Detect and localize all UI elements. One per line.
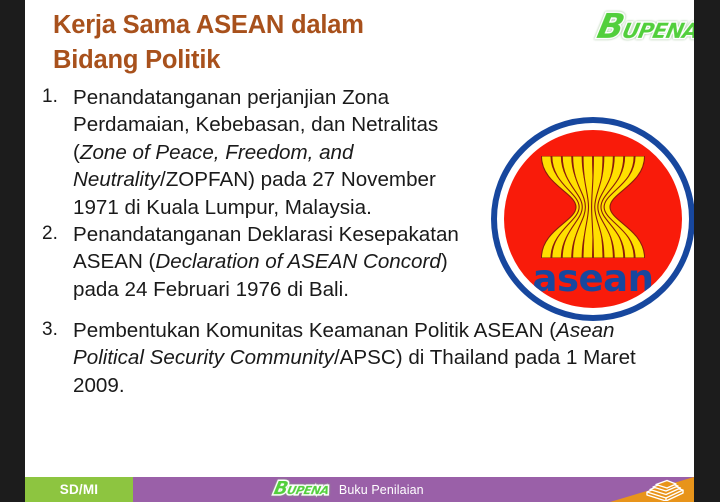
list-marker: 3. xyxy=(39,317,73,342)
bupena-logo: BUPENA xyxy=(598,10,686,46)
list-item: 3. Pembentukan Komunitas Keamanan Politi… xyxy=(39,317,679,399)
asean-wordmark: asean xyxy=(504,260,682,297)
bupena-rest: UPENA xyxy=(286,483,331,497)
text-run-italic: Declaration of ASEAN Concord xyxy=(155,250,440,273)
slide-root: Kerja Sama ASEAN dalam Bidang Politik BU… xyxy=(0,0,720,502)
footer-level-badge: SD/MI xyxy=(25,477,133,502)
list-item-text: Penandatanganan perjanjian Zona Perdamai… xyxy=(73,84,465,221)
bupena-text: BUPENA xyxy=(272,482,330,498)
footer-main: BUPENA Buku Penilaian xyxy=(133,477,694,502)
footer-bupena-logo: BUPENA xyxy=(274,480,329,499)
page-title: Kerja Sama ASEAN dalam Bidang Politik xyxy=(53,8,453,77)
list-marker: 1. xyxy=(39,84,73,109)
footer-bar: SD/MI BUPENA Buku Penilaian xyxy=(25,477,694,502)
asean-logo-icon: asean xyxy=(491,117,694,321)
asean-disc: asean xyxy=(504,130,682,308)
title-block: Kerja Sama ASEAN dalam Bidang Politik xyxy=(53,8,453,77)
bupena-wordmark: BUPENA xyxy=(594,10,694,44)
asean-rice-stalks-icon xyxy=(541,156,645,258)
list-item-text: Penandatanganan Deklarasi Kesepakatan AS… xyxy=(73,221,465,303)
list-item-text: Pembentukan Komunitas Keamanan Politik A… xyxy=(73,317,673,399)
text-run: Pembentukan Komunitas Keamanan Politik A… xyxy=(73,319,556,342)
bupena-text: BUPENA xyxy=(594,14,694,45)
bupena-rest: UPENA xyxy=(620,19,694,43)
slide-canvas: Kerja Sama ASEAN dalam Bidang Politik BU… xyxy=(25,0,694,502)
footer-label: Buku Penilaian xyxy=(339,483,424,497)
book-stack-icon xyxy=(644,478,686,501)
list-marker: 2. xyxy=(39,221,73,246)
bupena-wordmark: BUPENA xyxy=(272,480,331,499)
